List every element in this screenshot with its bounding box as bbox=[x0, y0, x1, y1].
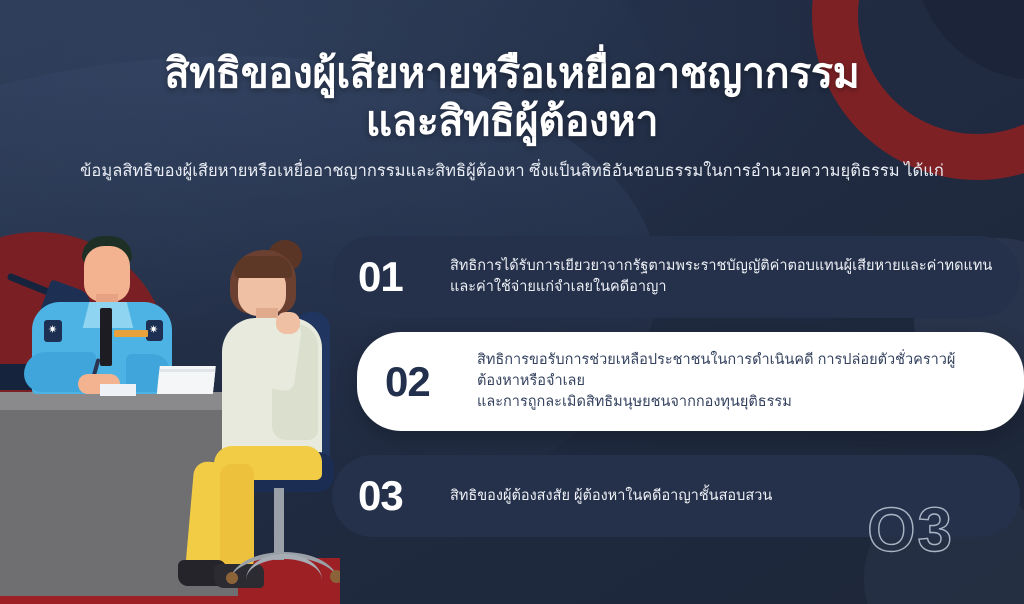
title-line-2: และสิทธิผู้ต้องหา bbox=[0, 98, 1024, 146]
list-item-text-line-2: และค่าใช้จ่ายแก่จำเลยในคดีอาญา bbox=[450, 277, 996, 298]
list-item-number: 03 bbox=[358, 475, 450, 517]
page-subtitle: ข้อมูลสิทธิของผู้เสียหายหรือเหยื่ออาชญาก… bbox=[0, 161, 1024, 182]
office-chair-wheel-left bbox=[226, 572, 238, 584]
list-item-pill-01[interactable]: 01 สิทธิการได้รับการเยียวยาจากรัฐตามพระร… bbox=[332, 236, 1020, 318]
list-item-pill-02-highlighted[interactable]: 02 สิทธิการขอรับการช่วยเหลือประชาชนในการ… bbox=[357, 332, 1024, 431]
list-item-text: สิทธิการได้รับการเยียวยาจากรัฐตามพระราชบ… bbox=[450, 256, 996, 298]
list-item-text-line-2: และการถูกละเมิดสิทธิมนุษยชนจากกองทุนยุติ… bbox=[477, 392, 998, 413]
list-item-number: 01 bbox=[358, 256, 450, 298]
slide-root: สิทธิของผู้เสียหายหรือเหยื่ออาชญากรรม แล… bbox=[0, 0, 1024, 604]
list-item-number: 02 bbox=[385, 361, 477, 403]
office-chair-wheel-right bbox=[330, 570, 340, 583]
list-item[interactable]: 02 สิทธิการขอรับการช่วยเหลือประชาชนในการ… bbox=[0, 332, 1024, 431]
list-item[interactable]: 01 สิทธิการได้รับการเยียวยาจากรัฐตามพระร… bbox=[0, 236, 1024, 318]
list-item-text-line-1: สิทธิการขอรับการช่วยเหลือประชาชนในการดำเ… bbox=[477, 352, 955, 389]
list-item-text-line-1: สิทธิของผู้ต้องสงสัย ผู้ต้องหาในคดีอาญาช… bbox=[450, 488, 772, 504]
title-line-1: สิทธิของผู้เสียหายหรือเหยื่ออาชญากรรม bbox=[165, 50, 860, 96]
page-title: สิทธิของผู้เสียหายหรือเหยื่ออาชญากรรม แล… bbox=[0, 50, 1024, 145]
page-number-watermark: O3 bbox=[867, 495, 954, 566]
list-item-text-line-1: สิทธิการได้รับการเยียวยาจากรัฐตามพระราชบ… bbox=[450, 258, 992, 274]
list-item-text: สิทธิการขอรับการช่วยเหลือประชาชนในการดำเ… bbox=[477, 350, 998, 413]
header: สิทธิของผู้เสียหายหรือเหยื่ออาชญากรรม แล… bbox=[0, 0, 1024, 183]
rights-list: 01 สิทธิการได้รับการเยียวยาจากรัฐตามพระร… bbox=[0, 236, 1024, 537]
